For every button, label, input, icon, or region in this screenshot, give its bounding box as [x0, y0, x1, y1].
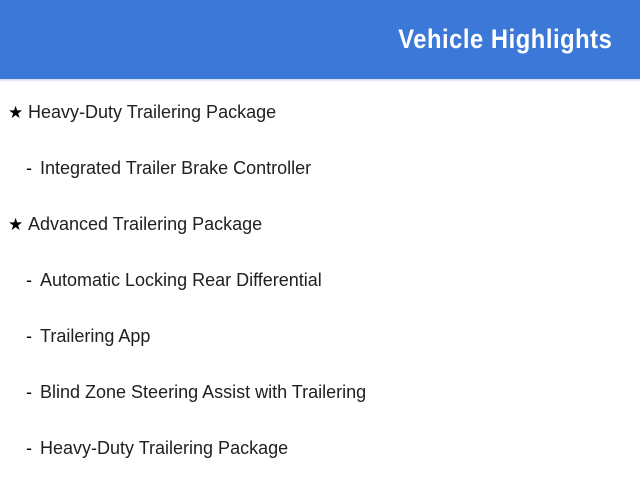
list-item-label: Heavy-Duty Trailering Package — [40, 437, 288, 459]
page-title: Vehicle Highlights — [398, 26, 612, 53]
list-item-label: Blind Zone Steering Assist with Traileri… — [40, 381, 366, 403]
list-item-label: Heavy-Duty Trailering Package — [28, 101, 276, 123]
dash-bullet-icon: - — [26, 327, 36, 345]
dash-bullet-icon: - — [26, 159, 36, 177]
list-item: - Integrated Trailer Brake Controller — [0, 154, 640, 182]
list-item-label: Trailering App — [40, 325, 150, 347]
list-item: - Blind Zone Steering Assist with Traile… — [0, 378, 640, 406]
list-item: ★ Heavy-Duty Trailering Package — [0, 98, 640, 126]
list-item: - Heavy-Duty Trailering Package — [0, 434, 640, 462]
list-item: - Automatic Locking Rear Differential — [0, 266, 640, 294]
star-bullet-icon: ★ — [8, 216, 28, 233]
dash-bullet-icon: - — [26, 271, 36, 289]
header-band: Vehicle Highlights — [0, 0, 640, 79]
list-item-label: Integrated Trailer Brake Controller — [40, 157, 311, 179]
dash-bullet-icon: - — [26, 439, 36, 457]
list-item: ★ Advanced Trailering Package — [0, 210, 640, 238]
star-bullet-icon: ★ — [8, 104, 28, 121]
highlights-list: ★ Heavy-Duty Trailering Package - Integr… — [0, 82, 640, 480]
dash-bullet-icon: - — [26, 383, 36, 401]
list-item-label: Advanced Trailering Package — [28, 213, 262, 235]
slide-root: Vehicle Highlights ★ Heavy-Duty Traileri… — [0, 0, 640, 480]
list-item-label: Automatic Locking Rear Differential — [40, 269, 322, 291]
list-item: - Trailering App — [0, 322, 640, 350]
